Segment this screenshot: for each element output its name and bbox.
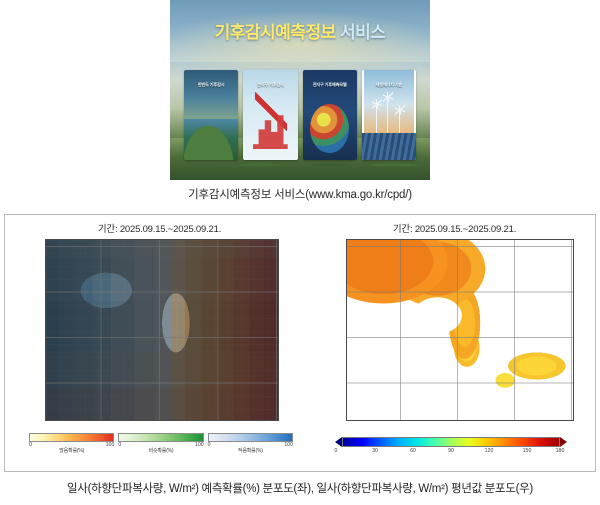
- colorbar-more: 0 100 많음확률(%): [29, 433, 114, 463]
- banner-title-primary: 기후감시예측정보: [215, 23, 336, 42]
- y-axis-tick: 39°N: [45, 288, 46, 294]
- x-axis-tick: 125°E: [151, 420, 166, 421]
- x-axis-tick: 130°E: [210, 420, 225, 421]
- y-axis-tick: 42°N: [45, 243, 46, 249]
- mean-value-colorbar: 0 30 60 90 120 150 180: [328, 437, 574, 463]
- banner-title: 기후감시예측정보 서비스: [170, 18, 430, 43]
- banner-card-list: 한반도 기후감시 전지구 기후감시 전지구 기후예측모델 재생에너지 지원: [184, 70, 416, 160]
- banner-title-secondary: 서비스: [340, 23, 385, 42]
- colorbar-less: 0 100 적음확률(%): [208, 433, 293, 463]
- colorbar-more-label: 많음확률(%): [29, 447, 114, 454]
- colorbar-min-arrow: [328, 437, 342, 447]
- colorbar-tick: 60: [410, 448, 416, 454]
- colorbar-less-label: 적음확률(%): [208, 447, 293, 454]
- climatology-mean-map: 42°N 39°N 36°N 33°N 125°E 130°E: [346, 239, 574, 421]
- wind-turbine-icon: [376, 104, 378, 135]
- colorbar-similar: 0 100 비슷확률(%): [118, 433, 203, 463]
- right-panel-title: 기간: 2025.09.15.~2025.09.21.: [300, 221, 595, 235]
- colorbar-ramp-row: [328, 437, 574, 447]
- colorbar-tick-row: 0 30 60 90 120 150 180: [328, 448, 574, 458]
- figure-container: 기간: 2025.09.15.~2025.09.21. 42°N 39°N 36…: [4, 214, 596, 472]
- colorbar-tick: 30: [372, 448, 378, 454]
- wind-turbine-icon: [399, 110, 401, 135]
- right-panel: 기간: 2025.09.15.~2025.09.21. 42°N 39°N 36…: [300, 215, 595, 471]
- banner-card-global-model[interactable]: 전지구 기후예측모델: [303, 70, 357, 160]
- probability-colorbar-group: 0 100 많음확률(%) 0 100 비슷확률(%) 0 100 적: [29, 433, 293, 463]
- colorbar-more-ramp: [29, 433, 114, 442]
- colorbar-tick: 90: [448, 448, 454, 454]
- colorbar-tick: 180: [556, 448, 565, 454]
- left-panel: 기간: 2025.09.15.~2025.09.21. 42°N 39°N 36…: [5, 215, 300, 471]
- chart-arrow-icon: [255, 92, 286, 132]
- wind-turbine-icon: [387, 97, 389, 135]
- y-axis-tick: 42°N: [346, 243, 347, 249]
- figure-caption-top: 기후감시예측정보 서비스(www.kma.go.kr/cpd/): [0, 186, 600, 202]
- ocean-mask: [347, 240, 573, 420]
- service-banner: 기후감시예측정보 서비스 한반도 기후감시 전지구 기후감시 전지구 기후예측모…: [170, 0, 430, 180]
- colorbar-max-arrow: [560, 437, 574, 447]
- x-axis-tick: 125°E: [446, 420, 461, 421]
- banner-card-global-monitoring[interactable]: 전지구 기후감시: [243, 70, 297, 160]
- banner-section: 기후감시예측정보 서비스 한반도 기후감시 전지구 기후감시 전지구 기후예측모…: [0, 0, 600, 188]
- banner-card-label: 한반도 기후감시: [184, 82, 238, 88]
- colorbar-less-ramp: [208, 433, 293, 442]
- colorbar-similar-label: 비슷확률(%): [118, 447, 203, 454]
- figure-caption-bottom: 일사(하향단파복사량, W/m²) 예측확률(%) 분포도(좌), 일사(하향단…: [0, 480, 600, 496]
- banner-card-label: 전지구 기후예측모델: [303, 82, 357, 88]
- banner-card-peninsula-monitoring[interactable]: 한반도 기후감시: [184, 70, 238, 160]
- banner-card-label: 전지구 기후감시: [243, 82, 297, 88]
- y-axis-tick: 36°N: [45, 334, 46, 340]
- y-axis-tick: 33°N: [45, 379, 46, 385]
- coastline-overlay: [46, 240, 278, 420]
- colorbar-jet-ramp: [342, 437, 560, 447]
- forecast-probability-map: 42°N 39°N 36°N 33°N 125°E 130°E: [45, 239, 279, 421]
- x-axis-tick: 130°E: [503, 420, 518, 421]
- colorbar-similar-ramp: [118, 433, 203, 442]
- y-axis-tick: 39°N: [346, 288, 347, 294]
- y-axis-tick: 36°N: [346, 334, 347, 340]
- banner-card-label: 재생에너지 지원: [362, 82, 416, 88]
- banner-card-renewable-energy[interactable]: 재생에너지 지원: [362, 70, 416, 160]
- colorbar-tick: 0: [335, 448, 338, 454]
- y-axis-tick: 33°N: [346, 379, 347, 385]
- colorbar-tick: 150: [523, 448, 532, 454]
- colorbar-tick: 120: [485, 448, 494, 454]
- left-panel-title: 기간: 2025.09.15.~2025.09.21.: [5, 221, 300, 235]
